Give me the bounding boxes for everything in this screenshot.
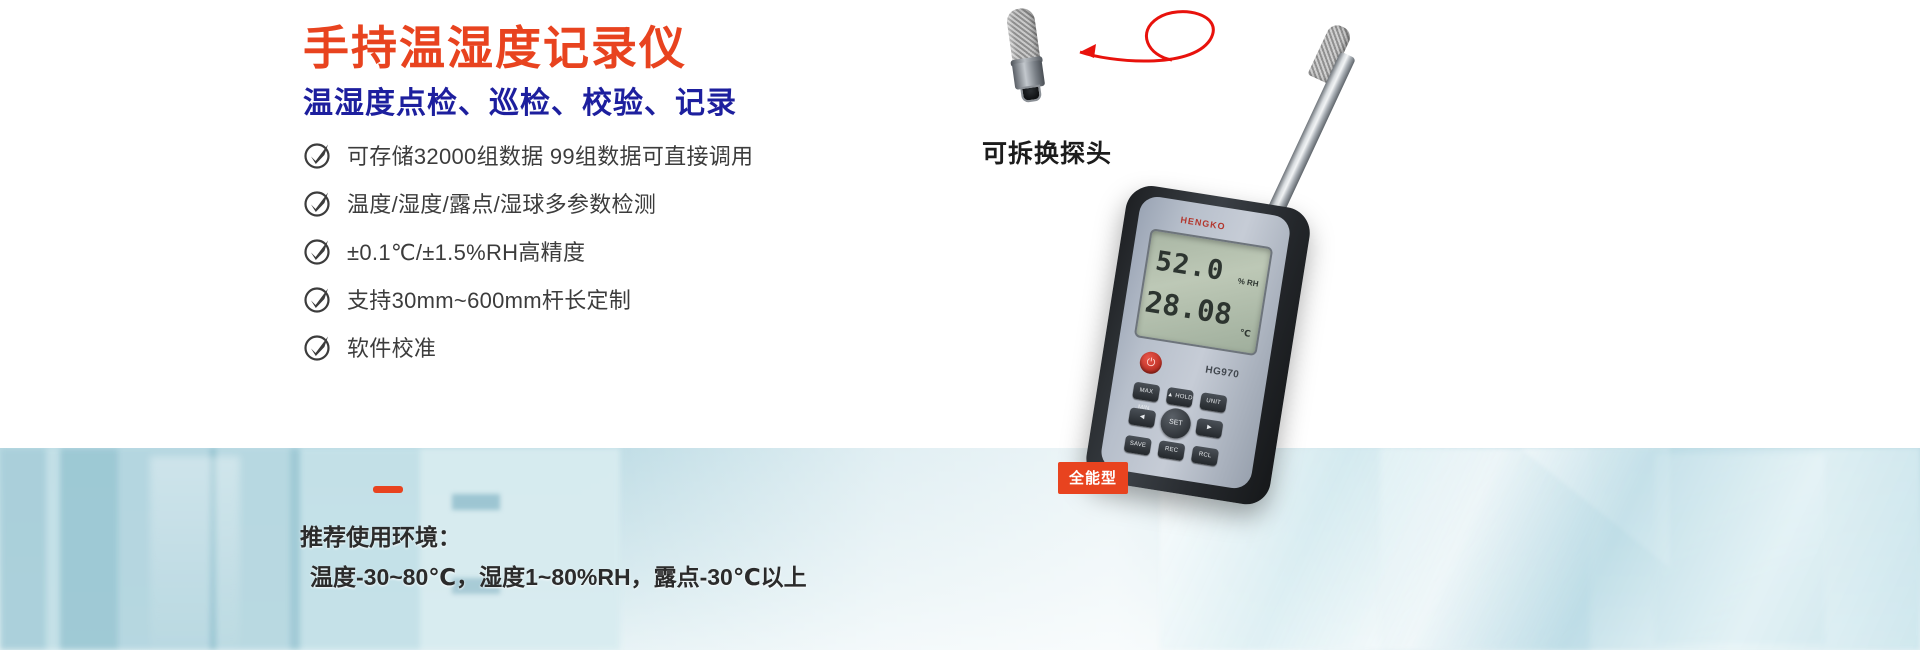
check-circle-icon <box>303 332 333 362</box>
list-item: 支持30mm~600mm杆长定制 <box>303 277 753 321</box>
list-item: 温度/湿度/露点/湿球多参数检测 <box>303 181 753 225</box>
feature-list: 可存储32000组数据 99组数据可直接调用 温度/湿度/露点/湿球多参数检测 … <box>303 133 753 373</box>
bg-pane-detail-upper <box>452 494 500 510</box>
lcd-humidity-unit: % RH <box>1237 276 1259 288</box>
check-circle-icon <box>303 284 333 314</box>
probe-connector-tip <box>1020 84 1042 103</box>
check-circle-icon <box>303 236 333 266</box>
feature-label: 可存储32000组数据 99组数据可直接调用 <box>347 139 753 171</box>
accent-dash <box>373 486 403 493</box>
check-circle-icon <box>303 188 333 218</box>
list-item: ±0.1℃/±1.5%RH高精度 <box>303 229 753 273</box>
check-circle-icon <box>303 140 333 170</box>
page-subtitle: 温湿度点检、巡检、校验、记录 <box>303 78 737 122</box>
bg-pane-left <box>150 456 240 650</box>
bg-pane-right-a <box>1380 448 1590 650</box>
product-banner: 手持温湿度记录仪 温湿度点检、巡检、校验、记录 可存储32000组数据 99组数… <box>0 0 1920 650</box>
feature-label: 软件校准 <box>347 331 436 363</box>
list-item: 可存储32000组数据 99组数据可直接调用 <box>303 133 753 177</box>
lcd-humidity-value: 52.0 <box>1153 246 1226 287</box>
lcd-temperature-value: 28.08 <box>1143 284 1235 331</box>
bg-sheen-triangle <box>1520 448 1670 568</box>
feature-label: 支持30mm~600mm杆长定制 <box>347 283 631 315</box>
page-title: 手持温湿度记录仪 <box>303 12 687 78</box>
background-photo-band <box>0 448 1920 650</box>
environment-detail: 温度-30~80℃，湿度1~80%RH，露点-30℃以上 <box>310 558 807 592</box>
feature-label: ±0.1℃/±1.5%RH高精度 <box>347 235 585 267</box>
bg-pane-right-b <box>1655 454 1825 644</box>
feature-label: 温度/湿度/露点/湿球多参数检测 <box>347 187 656 219</box>
environment-title: 推荐使用环境： <box>300 518 461 552</box>
list-item: 软件校准 <box>303 325 753 369</box>
device-lcd-screen: 52.0 % RH 28.08 ℃ <box>1134 228 1274 356</box>
probe-caption: 可拆换探头 <box>982 134 1112 170</box>
lcd-temperature-unit: ℃ <box>1239 327 1251 340</box>
status-badge: 全能型 <box>1058 462 1128 494</box>
